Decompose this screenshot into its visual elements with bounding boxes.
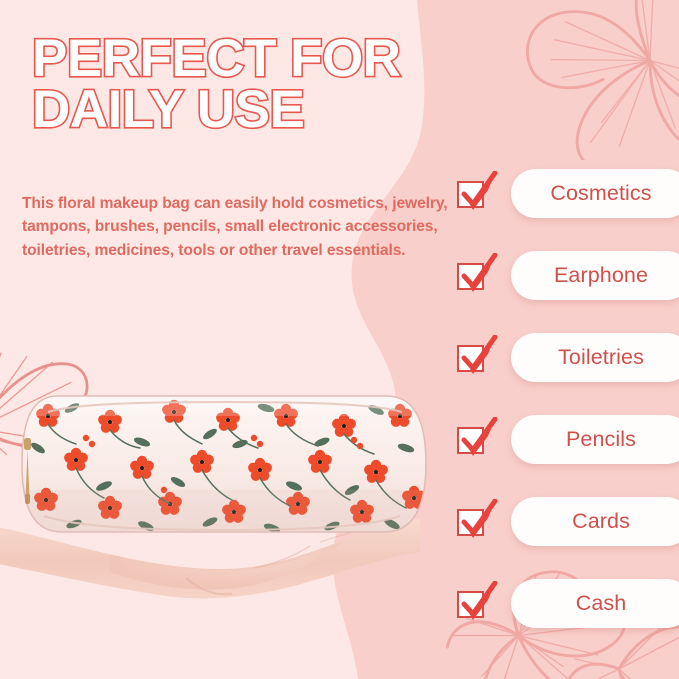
checklist-pill[interactable]: Cosmetics xyxy=(511,169,679,218)
checklist-pill[interactable]: Cards xyxy=(511,497,679,546)
checkmark-icon xyxy=(455,581,501,625)
checklist-pill[interactable]: Toiletries xyxy=(511,333,679,382)
checkbox-pencils[interactable] xyxy=(455,419,501,459)
checkbox-cosmetics[interactable] xyxy=(455,173,501,213)
checklist-label: Pencils xyxy=(566,427,636,452)
checkbox-cash[interactable] xyxy=(455,583,501,623)
description-paragraph: This floral makeup bag can easily hold c… xyxy=(22,192,454,263)
checkbox-cards[interactable] xyxy=(455,501,501,541)
checkmark-icon xyxy=(455,417,501,461)
checklist-label: Cards xyxy=(572,509,630,534)
checkbox-toiletries[interactable] xyxy=(455,337,501,377)
checklist-pill[interactable]: Cash xyxy=(511,579,679,628)
checkmark-icon xyxy=(455,335,501,379)
feature-checklist: Cosmetics Earphone xyxy=(455,152,679,644)
checklist-label: Cash xyxy=(576,591,627,616)
checkmark-icon xyxy=(455,253,501,297)
checklist-item[interactable]: Earphone xyxy=(455,234,679,316)
product-feature-banner: Perfect for daily use This floral makeup… xyxy=(0,0,679,679)
checklist-item[interactable]: Cards xyxy=(455,480,679,562)
checklist-item[interactable]: Cosmetics xyxy=(455,152,679,234)
product-photo xyxy=(0,372,452,679)
checklist-pill[interactable]: Pencils xyxy=(511,415,679,464)
floral-makeup-bag xyxy=(14,386,434,546)
checklist-item[interactable]: Cash xyxy=(455,562,679,644)
checklist-label: Earphone xyxy=(554,263,648,288)
checklist-item[interactable]: Toiletries xyxy=(455,316,679,398)
checkbox-earphone[interactable] xyxy=(455,255,501,295)
checkmark-icon xyxy=(455,499,501,543)
checklist-label: Cosmetics xyxy=(550,181,651,206)
checklist-label: Toiletries xyxy=(558,345,644,370)
checklist-item[interactable]: Pencils xyxy=(455,398,679,480)
checkmark-icon xyxy=(455,171,501,215)
page-title: Perfect for daily use xyxy=(32,34,462,136)
checklist-pill[interactable]: Earphone xyxy=(511,251,679,300)
